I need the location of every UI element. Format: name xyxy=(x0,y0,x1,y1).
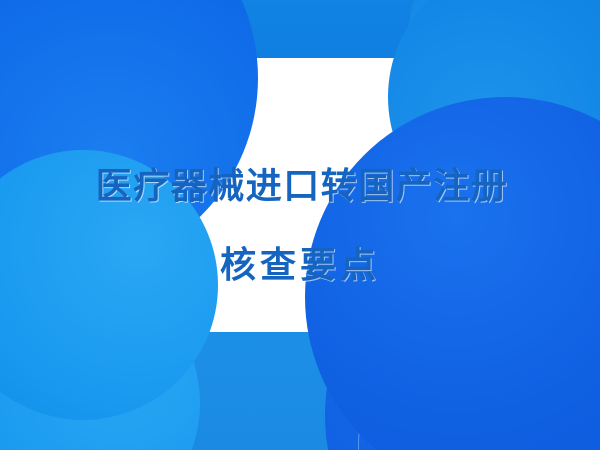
white-content-card xyxy=(18,58,580,332)
promo-banner: 医疗器械进口转国产注册 核查要点 xyxy=(0,0,600,450)
card-corner-cut-bottom-right xyxy=(305,97,600,450)
